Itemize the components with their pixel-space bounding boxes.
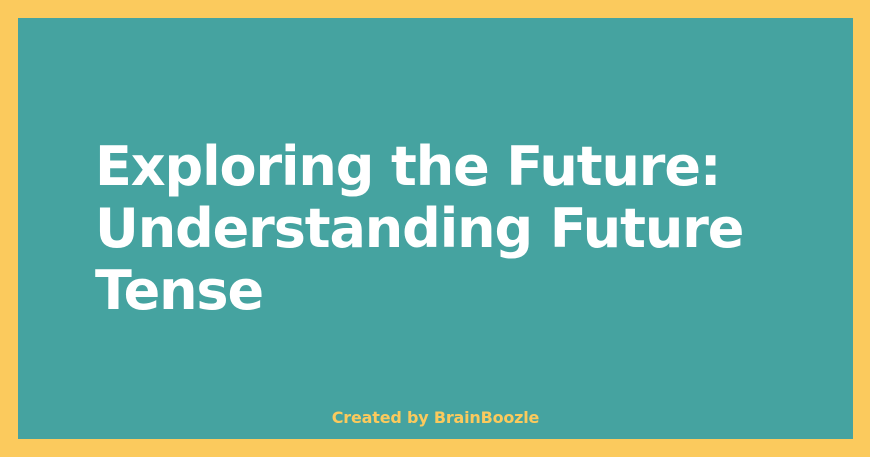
slide-footer: Created by BrainBoozle — [18, 408, 853, 428]
credit-label: Created by BrainBoozle — [332, 408, 539, 428]
slide-canvas: Exploring the Future: Understanding Futu… — [18, 18, 853, 439]
title-slide: Exploring the Future: Understanding Futu… — [0, 0, 870, 457]
title-block: Exploring the Future: Understanding Futu… — [95, 136, 795, 322]
slide-title: Exploring the Future: Understanding Futu… — [95, 136, 795, 322]
